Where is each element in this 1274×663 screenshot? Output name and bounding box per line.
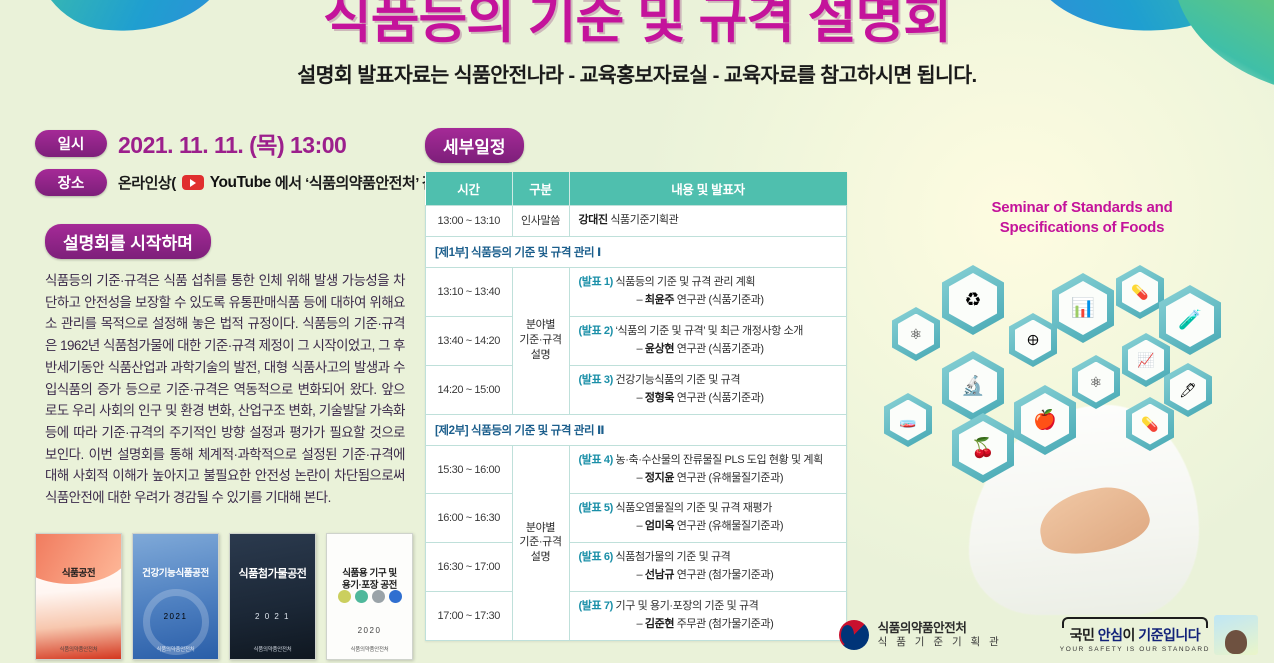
presentation-title: 기구 및 용기·포장의 기준 및 규격 bbox=[613, 600, 759, 612]
cell-time: 14:20 ~ 15:00 bbox=[426, 365, 513, 414]
book-cover: 식품용 기구 및 용기·포장 공전 2020 식품의약품안전처 bbox=[326, 533, 413, 660]
presentation-tag: (발표 4) bbox=[579, 454, 613, 466]
schedule-table: 시간 구분 내용 및 발표자 13:00 ~ 13:10 인사말씀 강대진 식품… bbox=[425, 172, 847, 641]
schedule-block: 세부일정 시간 구분 내용 및 발표자 13:00 ~ 13:10 인사말씀 강… bbox=[425, 128, 847, 641]
speaker-affiliation: 연구관 (유해물질기준과) bbox=[674, 520, 783, 532]
intro-badge: 설명회를 시작하며 bbox=[45, 224, 211, 259]
presentation-speaker-line: – 정형욱 연구관 (식품기준과) bbox=[579, 391, 838, 407]
cell-category-merged: 분야별 기준·규격 설명 bbox=[512, 267, 569, 414]
speaker-affiliation: 연구관 (식품기준과) bbox=[674, 392, 764, 404]
speaker-affiliation: 주무관 (첨가물기준과) bbox=[674, 618, 773, 630]
palm-image bbox=[1034, 479, 1154, 563]
table-row: 13:10 ~ 13:40 분야별 기준·규격 설명 (발표 1) 식품등의 기… bbox=[426, 267, 847, 316]
table-row-part-heading: [제1부] 식품등의 기준 및 규격 관리 Ⅰ bbox=[426, 236, 847, 267]
presentation-speaker-line: – 정지윤 연구관 (유해물질기준과) bbox=[579, 471, 838, 487]
table-row: 14:20 ~ 15:00 (발표 3) 건강기능식품의 기준 및 규격 – 정… bbox=[426, 365, 847, 414]
presentation-title: 식품오염물질의 기준 및 규격 재평가 bbox=[613, 502, 772, 514]
info-row-date: 일시 2021. 11. 11. (목) 13:00 bbox=[35, 126, 435, 160]
info-row-place: 장소 온라인상( YouTube 에서 ‘식품의약품안전처’ 검색) bbox=[35, 169, 435, 196]
cell-category-merged: 분야별 기준·규격 설명 bbox=[512, 445, 569, 641]
book-title: 식품공전 bbox=[57, 568, 100, 580]
mascot-figure bbox=[1225, 630, 1247, 654]
schedule-badge: 세부일정 bbox=[425, 128, 524, 163]
book-cover: 건강기능식품공전 2021 식품의약품안전처 bbox=[132, 533, 219, 660]
cell-time: 13:40 ~ 14:20 bbox=[426, 316, 513, 365]
slogan-english: YOUR SAFETY IS OUR STANDARD bbox=[1060, 646, 1210, 653]
table-row: 16:00 ~ 16:30 (발표 5) 식품오염물질의 기준 및 규격 재평가… bbox=[426, 494, 847, 543]
column-header-time: 시간 bbox=[426, 172, 513, 206]
book-title: 식품용 기구 및 용기·포장 공전 bbox=[337, 568, 402, 592]
table-header-row: 시간 구분 내용 및 발표자 bbox=[426, 172, 847, 206]
poster: 식품등의 기준 및 규격 설명회 설명회 발표자료는 식품안전나라 - 교육홍보… bbox=[0, 0, 1274, 663]
date-value: 2021. 11. 11. (목) 13:00 bbox=[118, 126, 346, 160]
hexagon-illustration: ♻ ⚛ 🜨 📊 💊 🧪 📈 🔬 ⚛ 🖊 🧫 🍒 🍎 💊 bbox=[854, 255, 1274, 615]
intro-block: 설명회를 시작하며 식품등의 기준·규격은 식품 섭취를 통한 인체 위해 발생… bbox=[45, 224, 405, 509]
place-value: 온라인상( YouTube 에서 ‘식품의약품안전처’ 검색) bbox=[118, 172, 453, 193]
slogan-korean: 국민 안심이 기준입니다 bbox=[1060, 625, 1210, 645]
cell-category: 인사말씀 bbox=[512, 206, 569, 237]
table-row-part-heading: [제2부] 식품등의 기준 및 규격 관리 Ⅱ bbox=[426, 414, 847, 445]
place-prefix: 온라인상( bbox=[118, 172, 176, 193]
page-title: 식품등의 기준 및 규격 설명회 bbox=[0, 0, 1274, 48]
cell-content: (발표 6) 식품첨가물의 기준 및 규격 – 선남규 연구관 (첨가물기준과) bbox=[569, 543, 847, 592]
date-label-badge: 일시 bbox=[35, 130, 107, 157]
publication-covers: 식품공전 식품의약품안전처 건강기능식품공전 2021 식품의약품안전처 식품첨… bbox=[35, 533, 413, 660]
slogan-bold-2: 기준입니다 bbox=[1138, 627, 1200, 643]
cell-time: 16:30 ~ 17:00 bbox=[426, 543, 513, 592]
speaker-name: 정형욱 bbox=[645, 392, 674, 404]
book-cover: 식품공전 식품의약품안전처 bbox=[35, 533, 122, 660]
mascot-image bbox=[1214, 615, 1258, 655]
place-label-badge: 장소 bbox=[35, 169, 107, 196]
cell-part-title: [제1부] 식품등의 기준 및 규격 관리 Ⅰ bbox=[426, 236, 847, 267]
book-year: 2021 bbox=[133, 612, 218, 621]
cell-time: 13:10 ~ 13:40 bbox=[426, 267, 513, 316]
chart-bar-icon: 📊 bbox=[1052, 273, 1114, 343]
agency-department: 식 품 기 준 기 획 관 bbox=[878, 636, 1002, 649]
presentation-title: 식품등의 기준 및 규격 관리 계획 bbox=[613, 276, 755, 288]
slogan-pre: 국민 bbox=[1070, 627, 1098, 643]
youtube-icon bbox=[182, 175, 204, 190]
youtube-label: YouTube bbox=[210, 174, 271, 192]
microscope-icon: 🔬 bbox=[942, 351, 1004, 421]
presentation-title: 건강기능식품의 기준 및 규격 bbox=[613, 374, 740, 386]
presentation-title: ‘식품의 기준 및 규격’ 및 최근 개정사항 소개 bbox=[613, 325, 803, 337]
cell-content: 강대진 식품기준기획관 bbox=[569, 206, 847, 237]
presentation-title: 식품첨가물의 기준 및 규격 bbox=[613, 551, 731, 563]
presentation-tag: (발표 2) bbox=[579, 325, 613, 337]
column-header-category: 구분 bbox=[512, 172, 569, 206]
recycle-icon: ♻ bbox=[942, 265, 1004, 335]
presentation-speaker-line: – 엄미옥 연구관 (유해물질기준과) bbox=[579, 519, 838, 535]
slogan-block: 국민 안심이 기준입니다 YOUR SAFETY IS OUR STANDARD bbox=[1060, 615, 1258, 655]
english-subtitle: Seminar of Standards and Specifications … bbox=[942, 198, 1222, 239]
agency-name: 식품의약품안전처 bbox=[878, 620, 1002, 636]
presentation-speaker-line: – 김준현 주무관 (첨가물기준과) bbox=[579, 617, 838, 633]
speaker-name: 윤상현 bbox=[645, 343, 674, 355]
table-row: 17:00 ~ 17:30 (발표 7) 기구 및 용기·포장의 기준 및 규격… bbox=[426, 592, 847, 641]
book-title: 건강기능식품공전 bbox=[137, 568, 214, 580]
speaker-affiliation: 연구관 (유해물질기준과) bbox=[674, 472, 783, 484]
slogan-bold-1: 안심 bbox=[1098, 627, 1123, 643]
presentation-speaker-line: – 최윤주 연구관 (식품기준과) bbox=[579, 293, 838, 309]
cell-time: 13:00 ~ 13:10 bbox=[426, 206, 513, 237]
hand-image bbox=[969, 405, 1199, 615]
speaker-name: 엄미옥 bbox=[645, 520, 674, 532]
book-year: 2 0 2 1 bbox=[230, 612, 315, 621]
title-block: 식품등의 기준 및 규격 설명회 설명회 발표자료는 식품안전나라 - 교육홍보… bbox=[0, 0, 1274, 88]
molecule-icon: ⚛ bbox=[1072, 355, 1120, 409]
pen-icon: 🖊 bbox=[1164, 363, 1212, 417]
book-dots-decoration bbox=[327, 590, 412, 603]
presentation-speaker-line: – 선남규 연구관 (첨가물기준과) bbox=[579, 568, 838, 584]
presentation-tag: (발표 7) bbox=[579, 600, 613, 612]
apple-molecule-icon: 🍎 bbox=[1014, 385, 1076, 455]
cell-content: (발표 1) 식품등의 기준 및 규격 관리 계획 – 최윤주 연구관 (식품기… bbox=[569, 267, 847, 316]
book-publisher: 식품의약품안전처 bbox=[327, 645, 412, 653]
test-tube-icon: 🧫 bbox=[884, 393, 932, 447]
cell-content: (발표 2) ‘식품의 기준 및 규격’ 및 최근 개정사항 소개 – 윤상현 … bbox=[569, 316, 847, 365]
part-label: [제2부] bbox=[435, 425, 468, 437]
part-label: [제1부] bbox=[435, 247, 468, 259]
book-year: 2020 bbox=[327, 626, 412, 635]
event-info: 일시 2021. 11. 11. (목) 13:00 장소 온라인상( YouT… bbox=[35, 126, 435, 205]
part-title: 식품등의 기준 및 규격 관리 Ⅱ bbox=[468, 425, 604, 437]
agency-name-block: 식품의약품안전처 식 품 기 준 기 획 관 bbox=[878, 620, 1002, 649]
table-row: 16:30 ~ 17:00 (발표 6) 식품첨가물의 기준 및 규격 – 선남… bbox=[426, 543, 847, 592]
speaker-title: 식품기준기획관 bbox=[608, 214, 679, 226]
fruit-network-icon: 🍒 bbox=[952, 413, 1014, 483]
cell-content: (발표 7) 기구 및 용기·포장의 기준 및 규격 – 김준현 주무관 (첨가… bbox=[569, 592, 847, 641]
speaker-affiliation: 연구관 (식품기준과) bbox=[674, 294, 764, 306]
column-header-content: 내용 및 발표자 bbox=[569, 172, 847, 206]
speaker-affiliation: 연구관 (첨가물기준과) bbox=[674, 569, 773, 581]
book-publisher: 식품의약품안전처 bbox=[230, 645, 315, 653]
molecule-icon: 🜨 bbox=[1009, 313, 1057, 367]
speaker-affiliation: 연구관 (식품기준과) bbox=[674, 343, 764, 355]
speaker-name: 정지윤 bbox=[645, 472, 674, 484]
cell-part-title: [제2부] 식품등의 기준 및 규격 관리 Ⅱ bbox=[426, 414, 847, 445]
cell-content: (발표 4) 농·축·수산물의 잔류물질 PLS 도입 현황 및 계획 – 정지… bbox=[569, 445, 847, 494]
pill-icon: 💊 bbox=[1126, 397, 1174, 451]
presentation-tag: (발표 6) bbox=[579, 551, 613, 563]
molecule-icon: ⚛ bbox=[892, 307, 940, 361]
cell-time: 15:30 ~ 16:00 bbox=[426, 445, 513, 494]
book-publisher: 식품의약품안전처 bbox=[36, 645, 121, 653]
presentation-tag: (발표 5) bbox=[579, 502, 613, 514]
speaker-name: 선남규 bbox=[645, 569, 674, 581]
slogan: 국민 안심이 기준입니다 YOUR SAFETY IS OUR STANDARD bbox=[1060, 617, 1210, 653]
presentation-tag: (발표 1) bbox=[579, 276, 613, 288]
presentation-title: 농·축·수산물의 잔류물질 PLS 도입 현황 및 계획 bbox=[613, 454, 823, 466]
speaker-name: 최윤주 bbox=[645, 294, 674, 306]
cell-time: 17:00 ~ 17:30 bbox=[426, 592, 513, 641]
capsule-icon: 💊 bbox=[1116, 265, 1164, 319]
slogan-mid: 이 bbox=[1123, 627, 1139, 643]
book-title: 식품첨가물공전 bbox=[233, 568, 311, 582]
book-publisher: 식품의약품안전처 bbox=[133, 645, 218, 653]
presentation-tag: (발표 3) bbox=[579, 374, 613, 386]
book-cover: 식품첨가물공전 2 0 2 1 식품의약품안전처 bbox=[229, 533, 316, 660]
part-title: 식품등의 기준 및 규격 관리 Ⅰ bbox=[468, 247, 601, 259]
intro-body-text: 식품등의 기준·규격은 식품 섭취를 통한 인체 위해 발생 가능성을 차단하고… bbox=[45, 270, 405, 509]
agency-logo: 식품의약품안전처 식 품 기 준 기 획 관 bbox=[839, 620, 1002, 650]
speaker-name: 강대진 bbox=[579, 214, 608, 226]
cell-time: 16:00 ~ 16:30 bbox=[426, 494, 513, 543]
table-row: 13:00 ~ 13:10 인사말씀 강대진 식품기준기획관 bbox=[426, 206, 847, 237]
page-subtitle: 설명회 발표자료는 식품안전나라 - 교육홍보자료실 - 교육자료를 참고하시면… bbox=[0, 58, 1274, 88]
footer-logos: 식품의약품안전처 식 품 기 준 기 획 관 국민 안심이 기준입니다 YOUR… bbox=[839, 615, 1258, 655]
presentation-speaker-line: – 윤상현 연구관 (식품기준과) bbox=[579, 342, 838, 358]
area-chart-icon: 📈 bbox=[1122, 333, 1170, 387]
flask-icon: 🧪 bbox=[1159, 285, 1221, 355]
table-row: 13:40 ~ 14:20 (발표 2) ‘식품의 기준 및 규격’ 및 최근 … bbox=[426, 316, 847, 365]
taegeuk-icon bbox=[839, 620, 869, 650]
cell-content: (발표 5) 식품오염물질의 기준 및 규격 재평가 – 엄미옥 연구관 (유해… bbox=[569, 494, 847, 543]
cell-content: (발표 3) 건강기능식품의 기준 및 규격 – 정형욱 연구관 (식품기준과) bbox=[569, 365, 847, 414]
speaker-name: 김준현 bbox=[645, 618, 674, 630]
table-row: 15:30 ~ 16:00 분야별 기준·규격 설명 (발표 4) 농·축·수산… bbox=[426, 445, 847, 494]
